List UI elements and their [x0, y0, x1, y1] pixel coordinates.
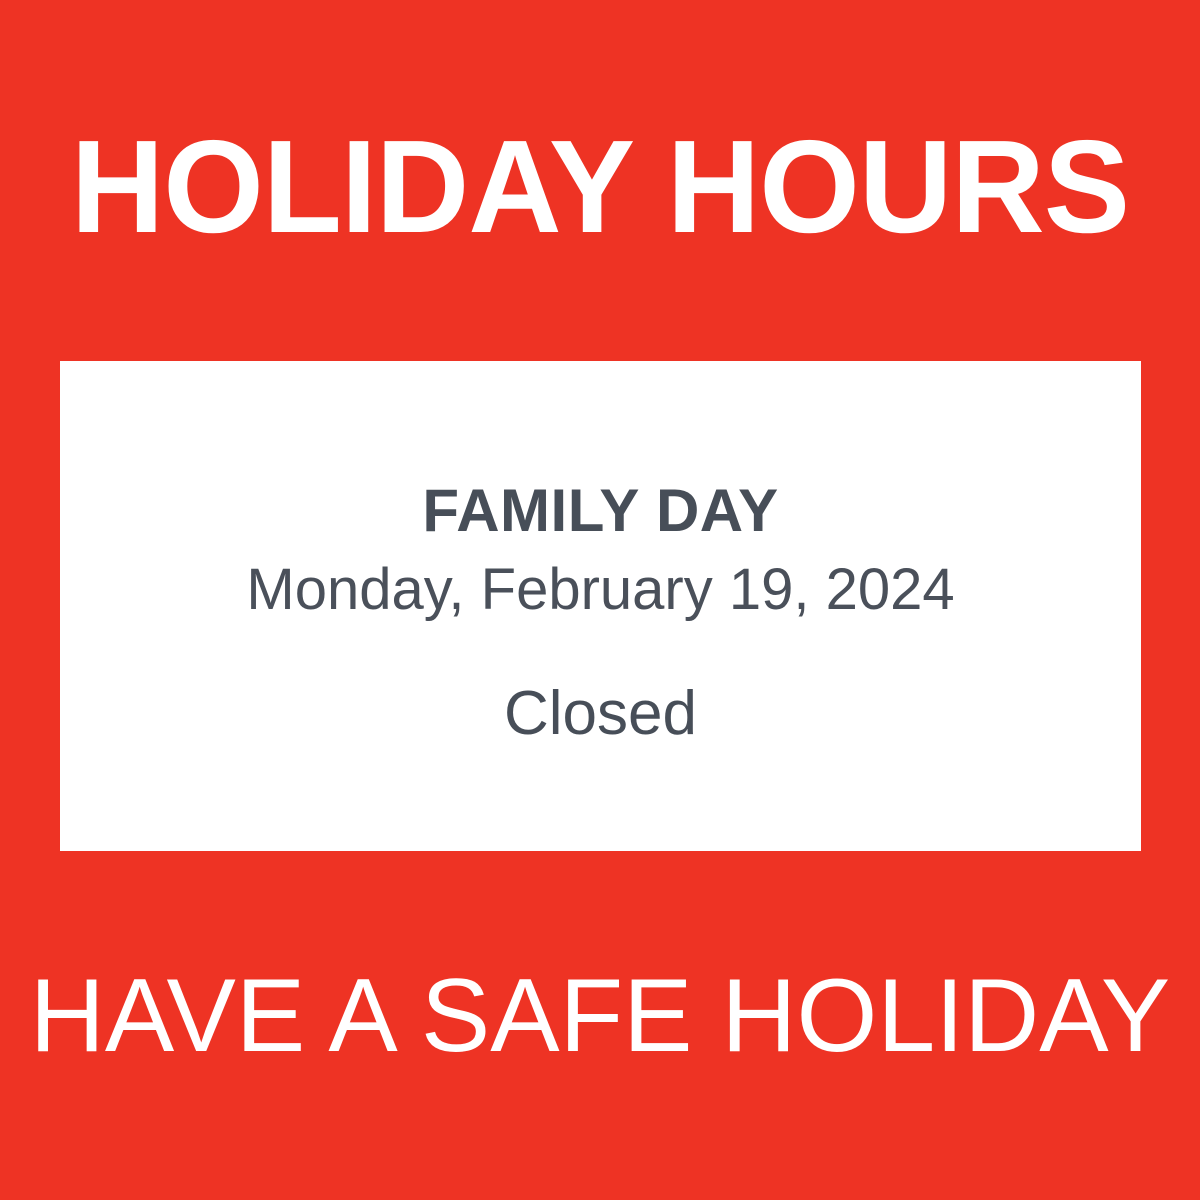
holiday-date: Monday, February 19, 2024	[60, 558, 1141, 622]
holiday-notice-card: FAMILY DAY Monday, February 19, 2024 Clo…	[60, 361, 1141, 851]
status-badge: Closed	[60, 680, 1141, 748]
holiday-name: FAMILY DAY	[60, 479, 1141, 544]
footer-message: HAVE A SAFE HOLIDAY	[30, 964, 1171, 1068]
holiday-hours-sign: HOLIDAY HOURS FAMILY DAY Monday, Februar…	[0, 0, 1200, 1200]
page-title: HOLIDAY HOURS	[71, 121, 1129, 253]
holiday-details: FAMILY DAY Monday, February 19, 2024 Clo…	[60, 479, 1141, 748]
headline-banner: HOLIDAY HOURS	[0, 0, 1200, 361]
footer-banner: HAVE A SAFE HOLIDAY	[0, 851, 1200, 1200]
